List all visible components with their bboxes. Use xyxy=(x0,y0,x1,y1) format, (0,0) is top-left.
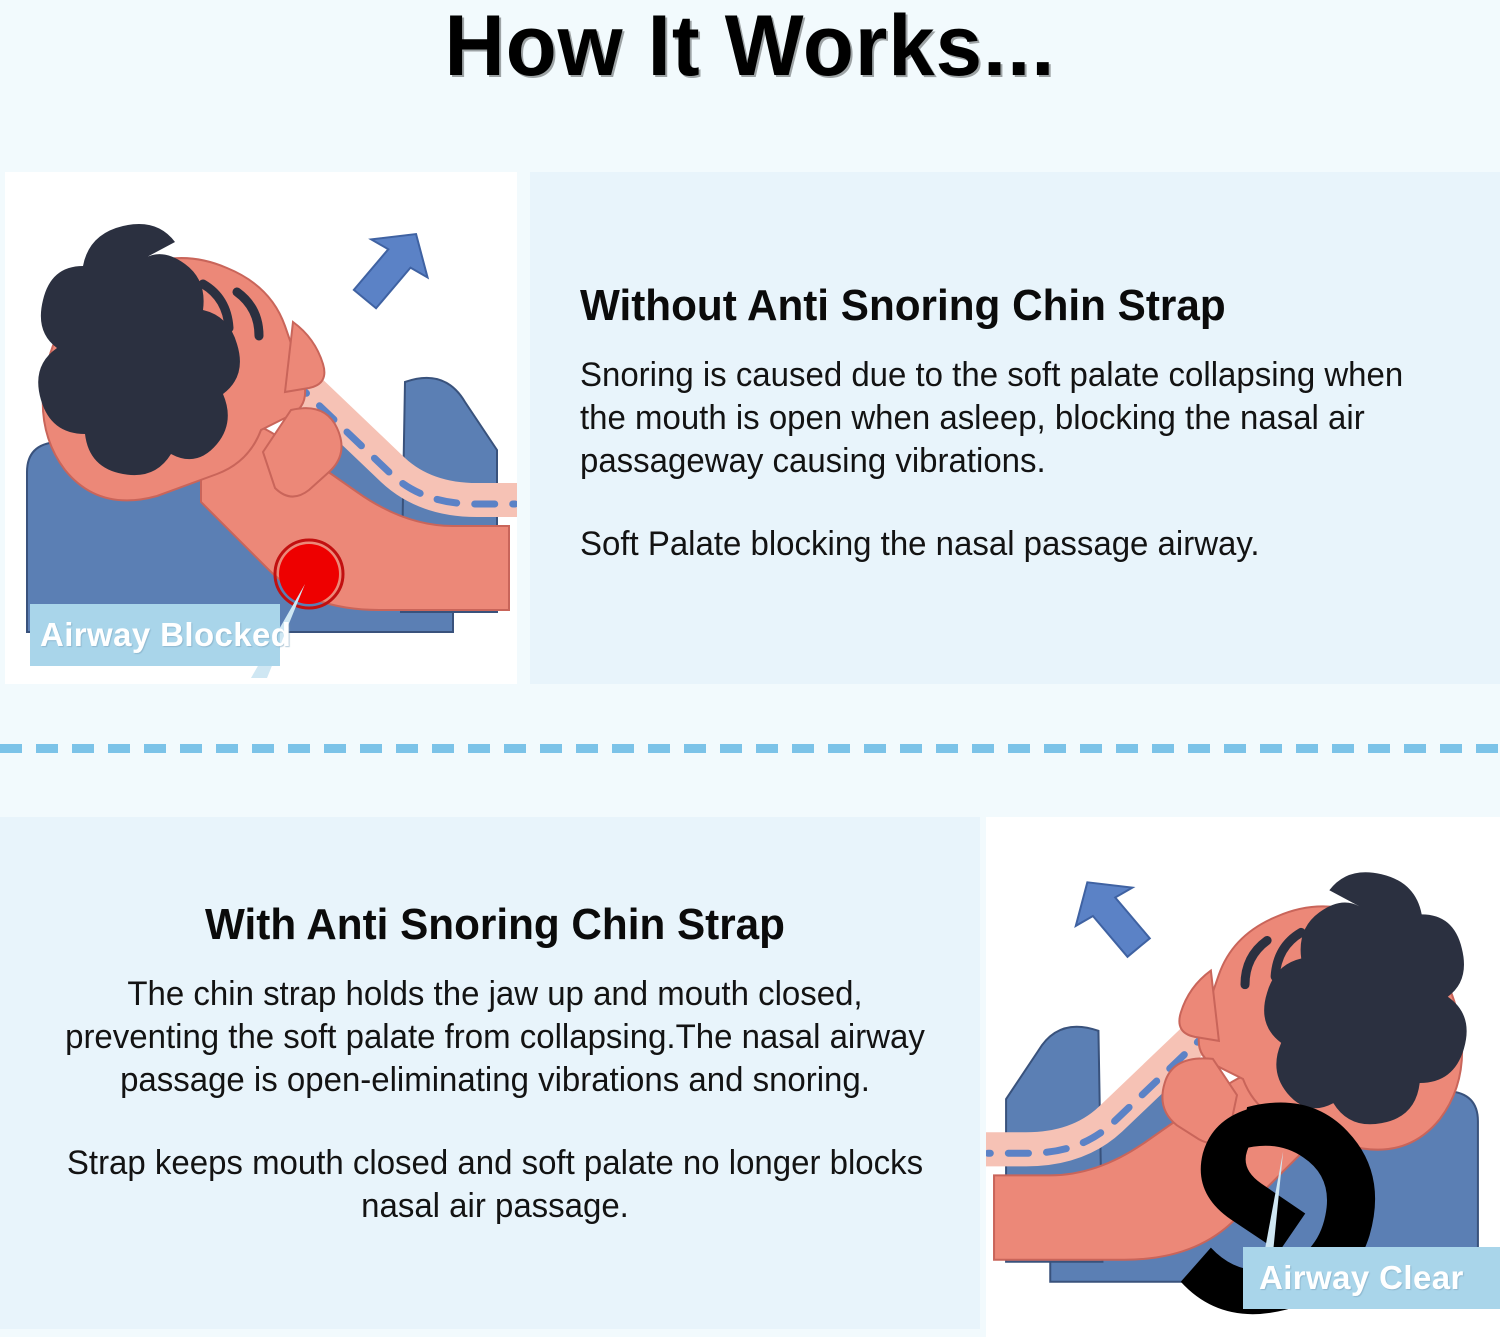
paragraph-spacer-2 xyxy=(45,1102,945,1142)
illustration-panel-without-strap: Airway Blocked xyxy=(5,172,517,684)
paragraph-without-strap-2: Soft Palate blocking the nasal passage a… xyxy=(580,523,1434,566)
heading-with-strap: With Anti Snoring Chin Strap xyxy=(63,899,927,951)
text-panel-without-strap: Without Anti Snoring Chin Strap Snoring … xyxy=(530,172,1500,684)
blockage-marker-dot xyxy=(279,544,339,604)
paragraph-without-strap-1: Snoring is caused due to the soft palate… xyxy=(580,354,1434,483)
callout-airway-blocked: Airway Blocked xyxy=(30,604,280,666)
paragraph-with-strap-2: Strap keeps mouth closed and soft palate… xyxy=(59,1142,932,1228)
text-block-without-strap: Without Anti Snoring Chin Strap Snoring … xyxy=(580,280,1460,566)
paragraph-with-strap-1: The chin strap holds the jaw up and mout… xyxy=(59,973,932,1102)
page-title: How It Works... xyxy=(23,0,1478,92)
heading-without-strap: Without Anti Snoring Chin Strap xyxy=(580,280,1425,332)
illustration-panel-with-strap: Airway Clear xyxy=(986,817,1500,1337)
text-block-with-strap: With Anti Snoring Chin Strap The chin st… xyxy=(45,899,945,1228)
paragraph-spacer xyxy=(580,483,1460,523)
callout-airway-clear: Airway Clear xyxy=(1243,1247,1500,1309)
section-without-strap: Airway Blocked Without Anti Snoring Chin… xyxy=(0,172,1500,684)
section-with-strap: With Anti Snoring Chin Strap The chin st… xyxy=(0,817,1500,1337)
section-divider xyxy=(0,744,1500,753)
text-panel-with-strap: With Anti Snoring Chin Strap The chin st… xyxy=(0,817,980,1329)
